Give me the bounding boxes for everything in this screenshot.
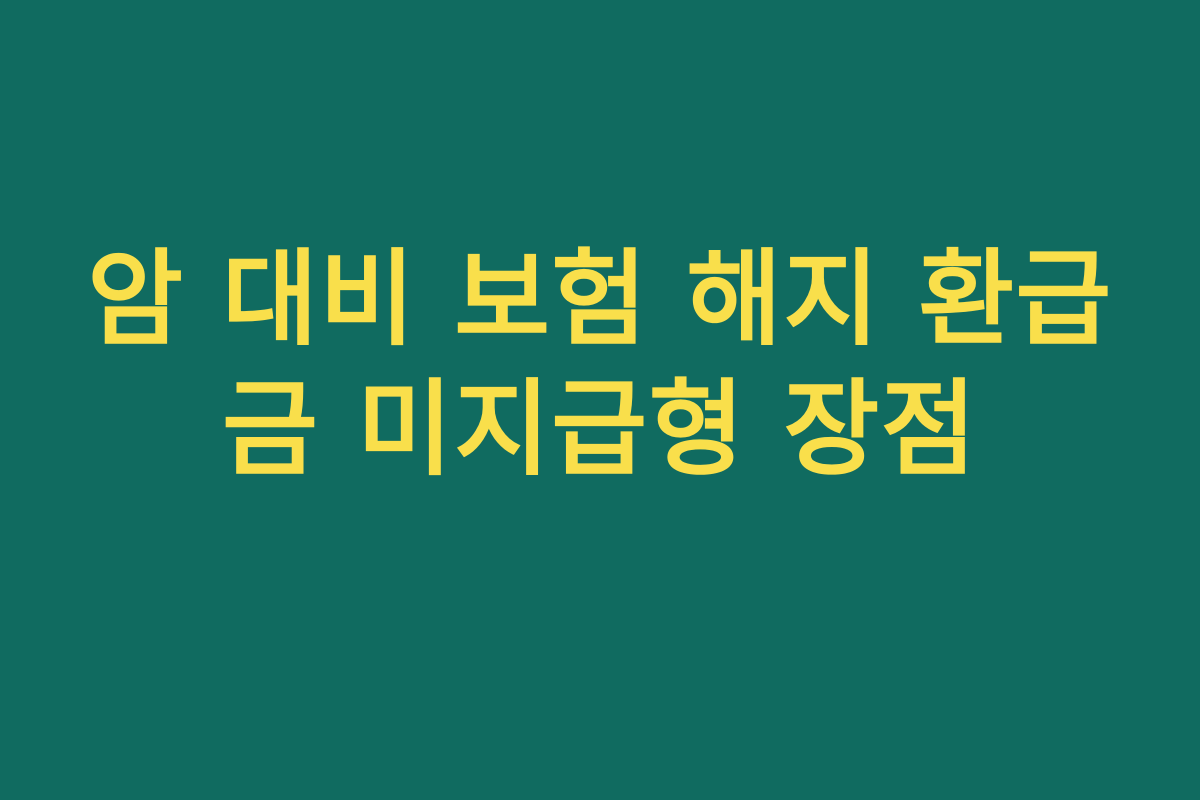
title-text-block: 암 대비 보험 해지 환급 금 미지급형 장점 <box>50 234 1150 494</box>
title-line-1: 암 대비 보험 해지 환급 <box>50 234 1150 364</box>
title-line-2: 금 미지급형 장점 <box>50 364 1150 494</box>
thumbnail-card: 암 대비 보험 해지 환급 금 미지급형 장점 <box>0 0 1200 800</box>
